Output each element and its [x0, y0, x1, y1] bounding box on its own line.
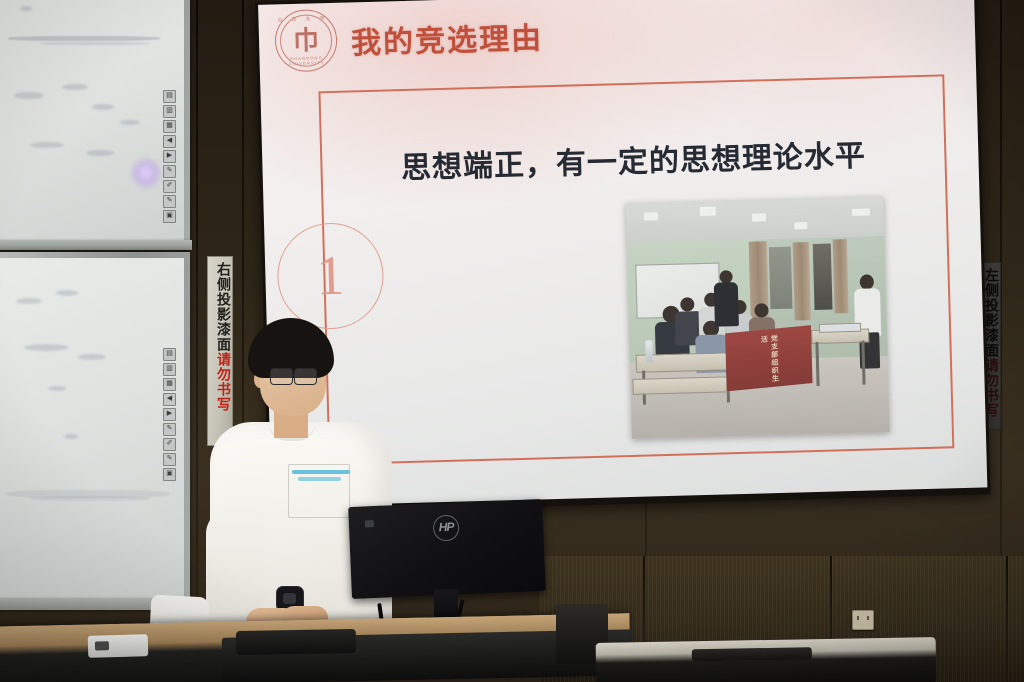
photo-window — [769, 247, 793, 310]
photo-ceiling-light — [794, 222, 807, 229]
photo-window — [813, 244, 833, 310]
glasses-icon — [270, 368, 293, 385]
marker-smudge — [86, 150, 114, 156]
print-icon[interactable]: ▥ — [163, 363, 176, 376]
eraser-icon[interactable]: ✐ — [163, 438, 176, 451]
save-icon[interactable]: ▤ — [163, 90, 176, 103]
prev-icon[interactable]: ◀ — [163, 393, 176, 406]
photo-curtain — [793, 242, 811, 320]
logo-arc-cn: 山东大学 — [275, 15, 335, 24]
wall-seam — [1006, 556, 1008, 682]
marker-streak — [8, 36, 160, 41]
pen-icon[interactable]: ✎ — [163, 423, 176, 436]
marker-smudge — [92, 104, 114, 110]
highlighter-icon[interactable]: ✎ — [163, 453, 176, 466]
monitor-led — [365, 520, 374, 527]
presenter-shirt-print — [292, 470, 350, 492]
printer — [596, 637, 937, 682]
slide-title: 我的竞选理由 — [350, 13, 543, 62]
photo-person-suit — [714, 282, 739, 327]
printer-lid — [692, 647, 812, 661]
camera-icon[interactable]: ▣ — [163, 468, 176, 481]
photo-banner-text: 党支部组织生活 — [758, 334, 779, 388]
marker-smudge — [16, 298, 42, 304]
pen-icon[interactable]: ✎ — [163, 165, 176, 178]
slide-heading: 思想端正，有一定的思想理论水平 — [322, 128, 945, 189]
hp-logo-icon: HP — [433, 514, 460, 541]
whiteboard-toolbar-lower[interactable]: ▤ ▥ ▦ ◀ ▶ ✎ ✐ ✎ ▣ — [163, 348, 176, 481]
logo-mark: 巾 — [293, 27, 320, 54]
classroom-scene: ▤ ▥ ▦ ◀ ▶ ✎ ✐ ✎ ▣ ▤ ▥ ▦ ◀ ▶ ✎ ✐ ✎ ▣ 右侧投影… — [0, 0, 1024, 682]
whiteboard-surface-upper[interactable] — [0, 0, 184, 240]
marker-smudge — [20, 6, 32, 11]
light-glare — [129, 156, 163, 190]
save-icon[interactable]: ▤ — [163, 348, 176, 361]
photo-red-banner: 党支部组织生活 — [725, 325, 812, 391]
marker-smudge — [120, 120, 140, 125]
next-icon[interactable]: ▶ — [163, 150, 176, 163]
whiteboard-tray — [0, 240, 192, 250]
keyboard-tray — [236, 629, 356, 655]
marker-smudge — [48, 386, 66, 391]
slide-classroom-photo: 党支部组织生活 — [626, 196, 890, 439]
university-seal-logo: 山东大学 巾 SHANDONG UNIVERSITY — [274, 9, 338, 73]
whiteboard-surface-lower[interactable] — [0, 258, 184, 598]
print-icon[interactable]: ▥ — [163, 105, 176, 118]
glasses-bridge — [291, 374, 295, 376]
photo-curtain — [833, 239, 849, 313]
photo-ceiling-light — [700, 207, 716, 216]
whiteboard-toolbar-upper[interactable]: ▤ ▥ ▦ ◀ ▶ ✎ ✐ ✎ ▣ — [163, 90, 176, 223]
marker-smudge — [14, 92, 44, 99]
desk-device[interactable] — [88, 634, 149, 658]
marker-smudge — [78, 354, 106, 360]
photo-paper — [819, 323, 861, 333]
marker-smudge — [30, 142, 64, 148]
slide-content-frame: 思想端正，有一定的思想理论水平 1 — [318, 74, 954, 465]
keyboard-icon[interactable]: ▦ — [163, 378, 176, 391]
marker-smudge — [24, 344, 68, 351]
photo-water-bottle — [645, 340, 653, 362]
marker-smudge — [64, 434, 78, 439]
camera-icon[interactable]: ▣ — [163, 210, 176, 223]
keyboard-icon[interactable]: ▦ — [163, 120, 176, 133]
photo-ceiling-light — [644, 212, 658, 220]
glasses-icon — [294, 368, 317, 385]
step-number-badge: 1 — [276, 222, 385, 331]
next-icon[interactable]: ▶ — [163, 408, 176, 421]
highlighter-icon[interactable]: ✎ — [163, 195, 176, 208]
marker-smudge — [56, 290, 78, 296]
photo-ceiling-light — [752, 213, 766, 221]
monitor-rear-panel: HP — [348, 499, 546, 599]
marker-streak — [40, 42, 150, 45]
step-number-value: 1 — [316, 248, 346, 305]
photo-desk — [632, 376, 728, 395]
eraser-icon[interactable]: ✐ — [163, 180, 176, 193]
marker-smudge — [62, 84, 88, 90]
wall-outlet[interactable] — [852, 610, 874, 630]
prev-icon[interactable]: ◀ — [163, 135, 176, 148]
faint-writing — [30, 496, 150, 501]
logo-arc-en: SHANDONG UNIVERSITY — [276, 55, 336, 67]
photo-ceiling-light — [852, 208, 870, 215]
wall-seam — [196, 0, 198, 682]
